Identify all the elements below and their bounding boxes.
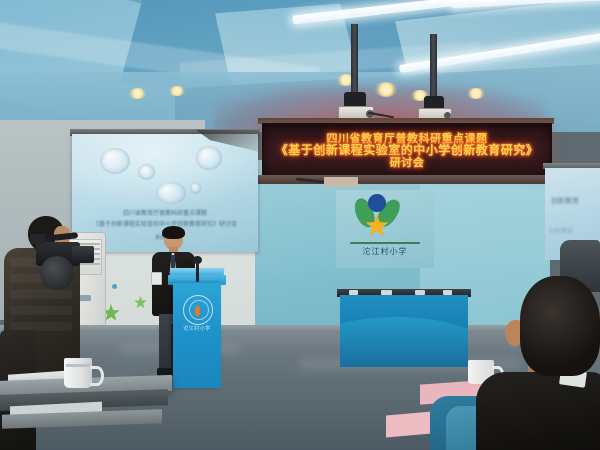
podium-emblem-icon [183,295,213,325]
screen-glare [72,134,258,217]
slide-bubble-image [196,146,222,170]
school-logo-plaque: 沱江村小学 [336,190,434,268]
school-name-caption: 沱江村小学 [336,246,434,257]
microphone-stem [196,262,199,282]
slide-text-right-secondary: 创新教育 [549,226,573,235]
blue-stage-table [340,295,468,367]
wall-star-decoration [134,296,147,309]
presenter-badge [151,272,162,285]
podium-emblem-figure [195,306,200,316]
slide-bubble-image [190,182,201,194]
recessed-downlight [466,88,486,99]
slide-bubble-image [138,164,155,180]
presenter-hair [162,226,185,239]
led-banner-line-3: 研讨会 [390,157,425,168]
recessed-downlight [128,88,147,99]
circle-icon [368,194,386,212]
table-wave-graphic [340,317,468,367]
slide-bubble-image [100,148,130,174]
slide-text-right: 创新教育 [551,196,579,206]
wall-dot-decoration [112,284,117,289]
mug-band [66,364,90,367]
microphone-head-icon [193,256,202,264]
projector-mount-rod [351,24,358,96]
white-ceramic-mug [64,358,92,388]
speaker-podium: 沱江村小学 [173,283,221,388]
recessed-downlight [374,82,398,97]
photo-scene: 四川省教育厅普教科研重点课题 《基于创新课程实验室的中小学创新教育研究》 研讨会… [0,0,600,450]
mug-handle [90,366,104,386]
projector-mount-rod [430,34,437,100]
slide-title-line: 四川省教育厅普教科研重点课题 [72,208,258,217]
logo-underline [350,242,420,244]
podium-caption: 沱江村小学 [177,325,217,332]
led-banner-line-2: 《基于创新课程实验室的中小学创新教育研究》 [276,144,539,156]
slide-bubble-image [156,182,186,204]
camera-hood [40,256,74,290]
camera-lens-icon [72,246,94,263]
recessed-downlight [168,86,186,96]
led-banner-bracket [324,177,358,187]
scrolling-led-banner: 四川省教育厅普教科研重点课题 《基于创新课程实验室的中小学创新教育研究》 研讨会 [262,123,552,178]
ceiling [0,0,600,132]
audience-member-foreground [520,276,600,376]
